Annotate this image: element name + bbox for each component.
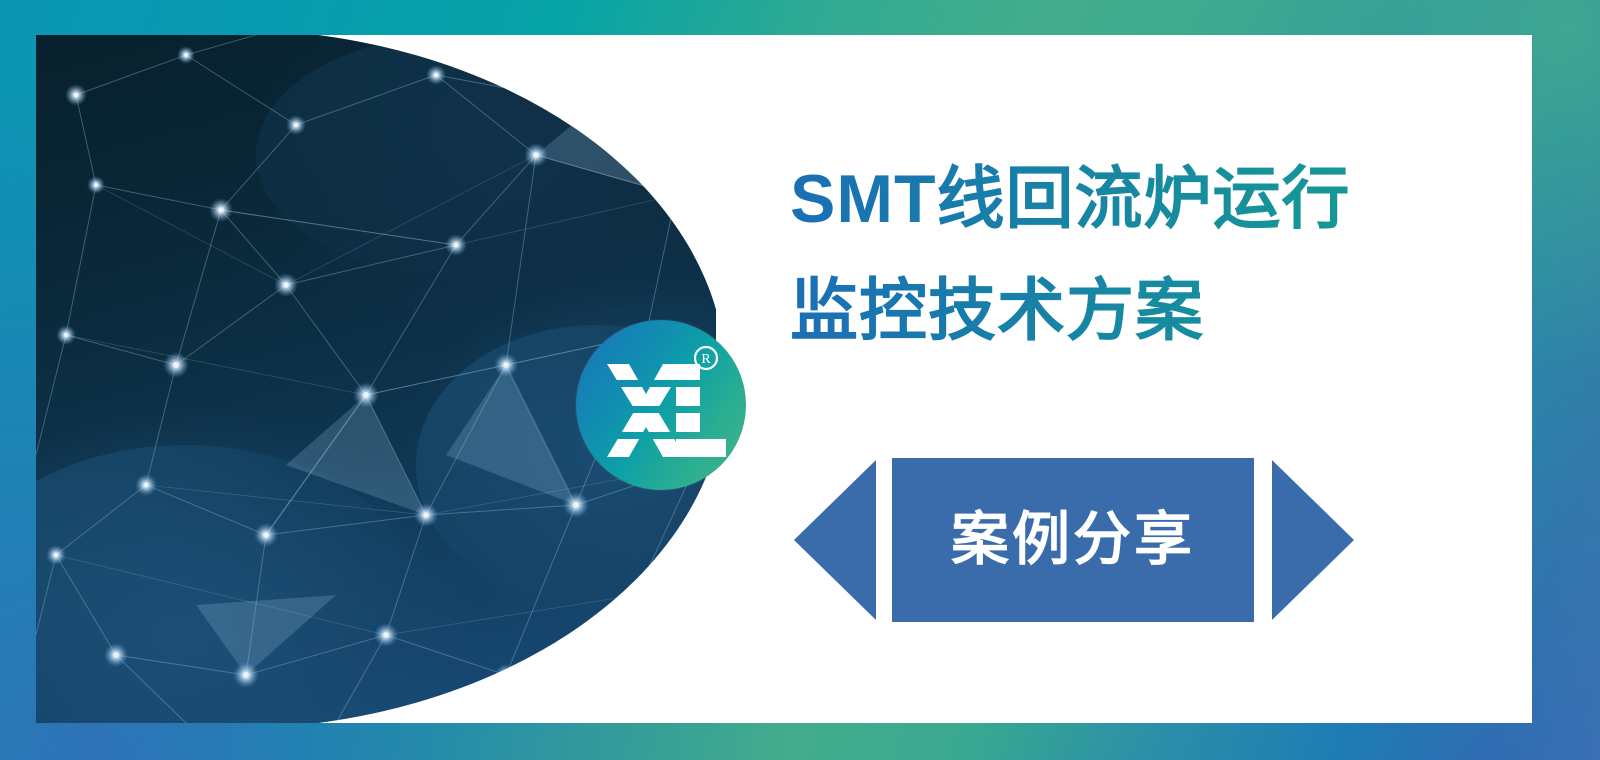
triangle-right-icon	[1272, 460, 1354, 620]
title-line-1: SMT线回流炉运行	[790, 143, 1490, 255]
registered-r-glyph: R	[701, 352, 711, 367]
xl-logo-mark: R	[576, 320, 746, 490]
title-line-2: 监控技术方案	[790, 255, 1490, 367]
xl-logo: R	[576, 320, 746, 490]
badge-body: 案例分享	[892, 458, 1254, 622]
slide-root: R SMT线回流炉运行 监控技术方案 案例分享	[0, 0, 1600, 760]
cover-content: SMT线回流炉运行 监控技术方案 案例分享	[752, 35, 1532, 723]
cover-title: SMT线回流炉运行 监控技术方案	[790, 143, 1490, 367]
slide-card: R SMT线回流炉运行 监控技术方案 案例分享	[36, 35, 1532, 723]
triangle-left-icon	[794, 460, 876, 620]
case-share-banner: 案例分享	[794, 425, 1354, 625]
badge-label: 案例分享	[951, 511, 1195, 569]
